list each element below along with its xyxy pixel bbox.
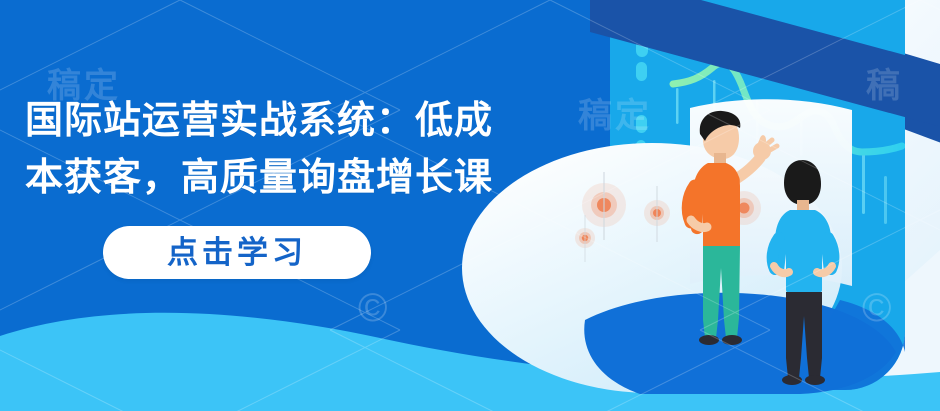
- person-right-hair: [784, 160, 821, 205]
- bubble-3: [636, 115, 647, 133]
- title-line-2: 本获客，高质量询盘增长课: [25, 150, 625, 207]
- page-title: 国际站运营实战系统：低成 本获客，高质量询盘增长课: [25, 93, 625, 207]
- cta-label: 点击学习: [167, 237, 307, 268]
- click-to-learn-button[interactable]: 点击学习: [103, 226, 371, 279]
- course-promo-banner: 稿定 稿定 稿 © © 国际站运营实战系统：低成 本获客，高质量询盘增长课 点击…: [0, 0, 940, 411]
- bubble-2: [636, 62, 647, 81]
- title-line-1: 国际站运营实战系统：低成: [25, 93, 625, 150]
